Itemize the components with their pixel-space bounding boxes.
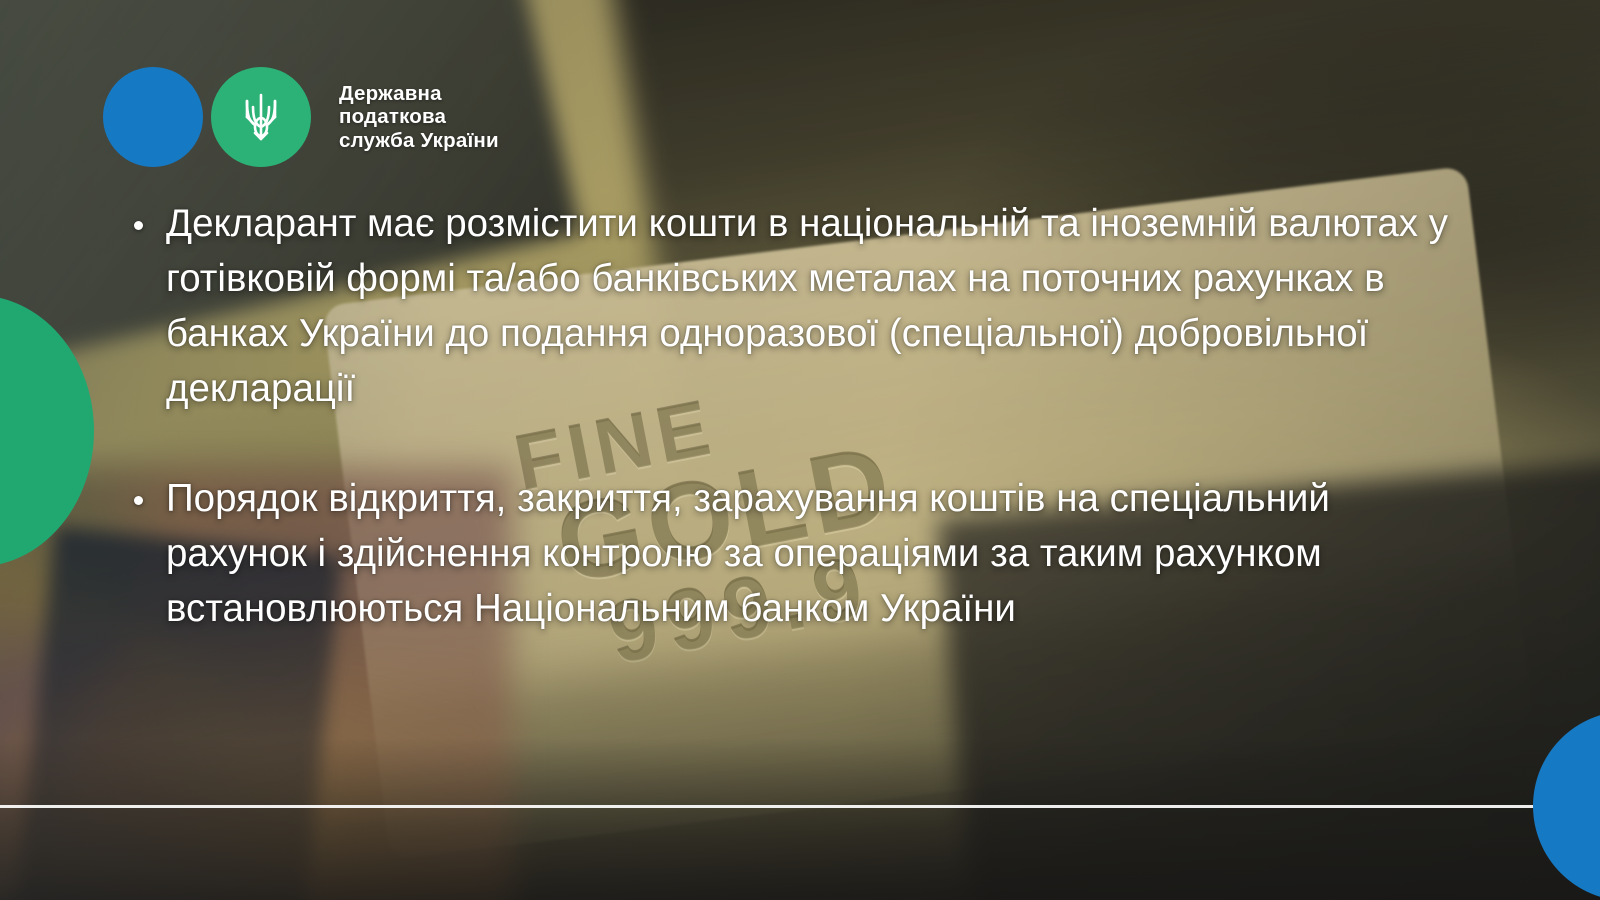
brand-line-2: податкова	[339, 105, 499, 129]
footer-divider	[0, 805, 1538, 808]
brand-logo: Державна податкова служба України	[103, 67, 499, 167]
slide: FINE GOLD 999.9 Державна	[0, 0, 1600, 900]
brand-line-1: Державна	[339, 82, 499, 106]
bullet-list: Декларант має розмістити кошти в націона…	[120, 196, 1480, 636]
brand-logo-text: Державна податкова служба України	[339, 82, 499, 153]
slide-content: Декларант має розмістити кошти в націона…	[120, 196, 1480, 636]
brand-line-3: служба України	[339, 129, 499, 153]
logo-green-circle-icon	[211, 67, 311, 167]
ukraine-trident-icon	[239, 89, 283, 145]
bullet-item-2: Порядок відкриття, закриття, зарахування…	[120, 471, 1480, 636]
bullet-item-1: Декларант має розмістити кошти в націона…	[120, 196, 1480, 416]
logo-blue-circle-icon	[103, 67, 203, 167]
